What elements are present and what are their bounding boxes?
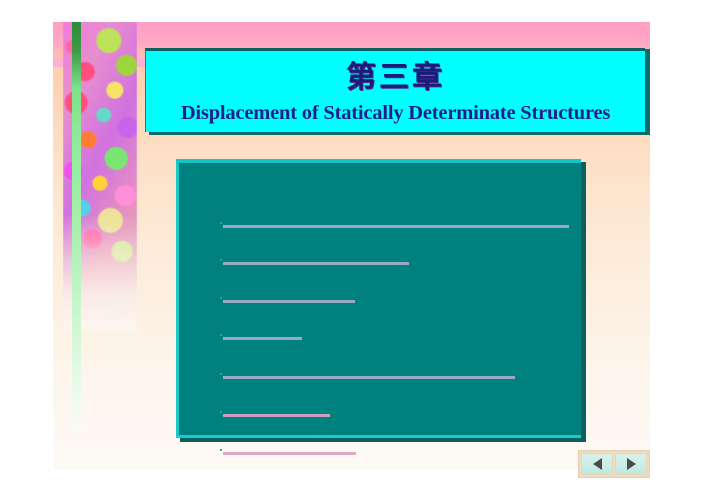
previous-slide-button[interactable] <box>581 453 613 475</box>
underline-rule <box>223 337 302 340</box>
bullet-dot <box>220 222 222 224</box>
content-line <box>223 225 569 229</box>
underline-rule <box>223 262 409 265</box>
content-line <box>223 262 409 266</box>
bullet-dot <box>220 411 222 413</box>
slide-navigation <box>578 450 650 478</box>
chapter-title-chinese: 第三章 <box>146 57 645 99</box>
content-box <box>176 159 581 438</box>
content-line <box>223 300 355 304</box>
triangle-left-icon <box>593 458 602 470</box>
bullet-dot <box>220 297 222 299</box>
underline-rule <box>223 300 355 303</box>
underline-rule <box>223 376 515 379</box>
bullet-dot <box>220 373 222 375</box>
triangle-right-icon <box>627 458 636 470</box>
green-accent-line <box>72 22 81 432</box>
underline-rule <box>223 414 330 417</box>
screenshot-root: 第三章 Displacement of Statically Determina… <box>0 0 702 496</box>
content-line <box>223 337 302 341</box>
title-box: 第三章 Displacement of Statically Determina… <box>145 48 645 132</box>
content-line <box>223 452 356 456</box>
underline-rule <box>223 452 356 455</box>
content-line <box>223 414 330 418</box>
bullet-dot <box>220 334 222 336</box>
underline-rule <box>223 225 569 228</box>
next-slide-button[interactable] <box>615 453 647 475</box>
bullet-dot <box>220 449 222 451</box>
bullet-dot <box>220 259 222 261</box>
content-line <box>223 376 515 380</box>
chapter-title-english: Displacement of Statically Determinate S… <box>146 99 645 127</box>
presentation-slide: 第三章 Displacement of Statically Determina… <box>53 22 650 470</box>
